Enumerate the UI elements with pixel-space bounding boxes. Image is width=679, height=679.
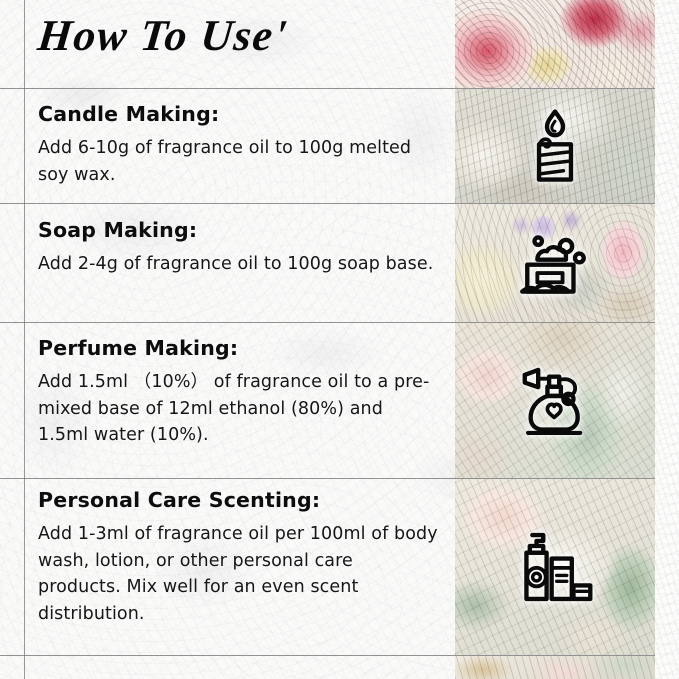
- icon-panel-soap: [455, 204, 655, 322]
- lotion-bottles-icon: [513, 525, 597, 609]
- desk-botanical-photo: [455, 656, 655, 679]
- section-heading: Personal Care Scenting:: [38, 488, 438, 512]
- icon-panel-candle: [455, 89, 655, 203]
- icon-panel-personal-care: [455, 479, 655, 655]
- side-botanical-strip: [655, 0, 679, 679]
- section-candle-making: Candle Making: Add 6-10g of fragrance oi…: [38, 102, 438, 188]
- section-heading: Candle Making:: [38, 102, 438, 126]
- page-title: How To Use': [35, 10, 290, 61]
- candle-icon: [513, 104, 597, 188]
- rose-botanical-photo: [455, 0, 655, 88]
- section-perfume-making: Perfume Making: Add 1.5ml （10%） of fragr…: [38, 336, 438, 449]
- soap-bar-icon: [513, 221, 597, 305]
- perfume-atomizer-icon: [513, 359, 597, 443]
- section-body: Add 1.5ml （10%） of fragrance oil to a pr…: [38, 369, 438, 449]
- section-heading: Perfume Making:: [38, 336, 438, 360]
- decor-panel-bottom: [455, 656, 655, 679]
- section-heading: Soap Making:: [38, 218, 438, 242]
- illustration-column: [455, 0, 655, 679]
- icon-panel-perfume: [455, 323, 655, 478]
- left-margin-rule: [24, 0, 25, 679]
- section-body: Add 6-10g of fragrance oil to 100g melte…: [38, 135, 438, 188]
- section-body: Add 2-4g of fragrance oil to 100g soap b…: [38, 251, 438, 278]
- decor-panel-top: [455, 0, 655, 88]
- section-personal-care-scenting: Personal Care Scenting: Add 1-3ml of fra…: [38, 488, 438, 627]
- section-body: Add 1-3ml of fragrance oil per 100ml of …: [38, 521, 438, 627]
- how-to-use-infographic: How To Use' Candle Making: Add 6-10g of …: [0, 0, 679, 679]
- section-soap-making: Soap Making: Add 2-4g of fragrance oil t…: [38, 218, 438, 278]
